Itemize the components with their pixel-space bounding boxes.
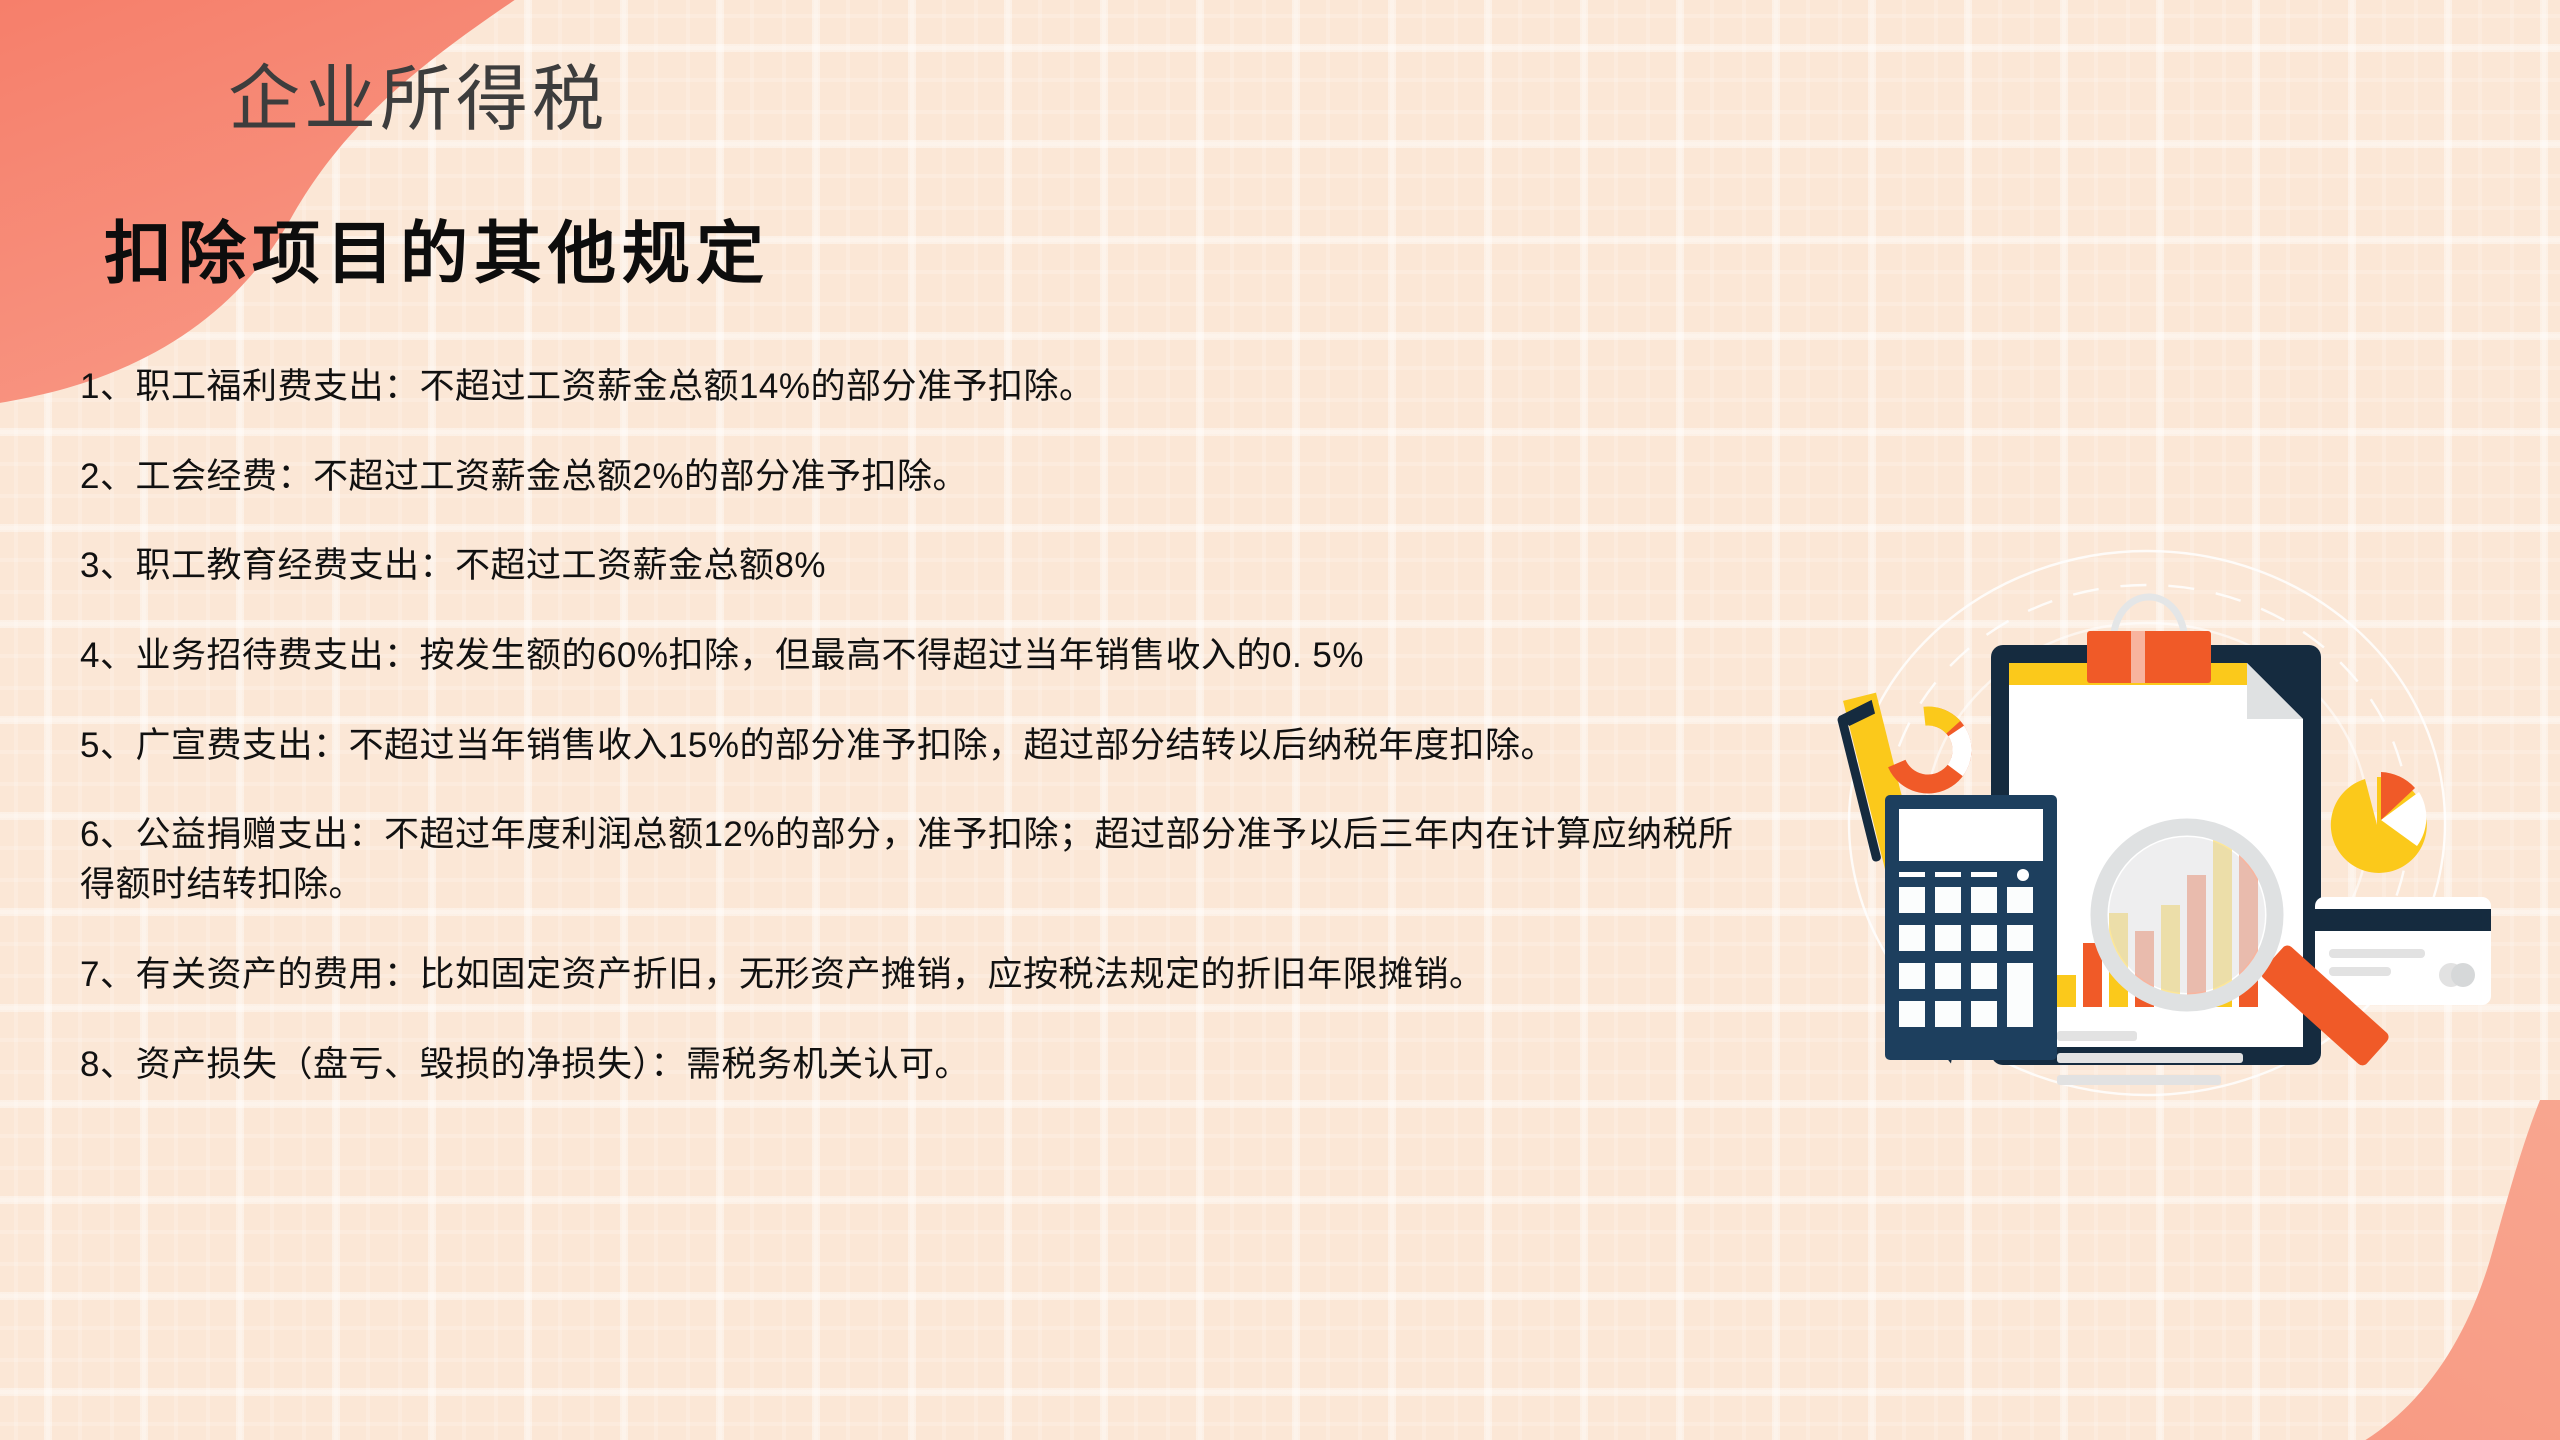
list-item: 7、有关资产的费用：比如固定资产折旧，无形资产摊销，应按税法规定的折旧年限摊销。 — [80, 950, 1740, 1000]
list-item: 5、广宣费支出：不超过当年销售收入15%的部分准予扣除，超过部分结转以后纳税年度… — [80, 721, 1740, 771]
page-subtitle: 扣除项目的其他规定 — [104, 198, 770, 297]
list-item: 4、业务招待费支出：按发生额的60%扣除，但最高不得超过当年销售收入的0. 5% — [80, 631, 1740, 681]
page-title: 企业所得税 — [228, 40, 608, 145]
list-item: 8、资产损失（盘亏、毁损的净损失）：需税务机关认可。 — [80, 1040, 1740, 1090]
list-item: 3、职工教育经费支出：不超过工资薪金总额8% — [80, 541, 1740, 591]
slide-canvas: 企业所得税 扣除项目的其他规定 1、职工福利费支出：不超过工资薪金总额14%的部… — [0, 0, 2560, 1440]
list-item: 2、工会经费：不超过工资薪金总额2%的部分准予扣除。 — [80, 452, 1740, 502]
financial-analysis-illustration — [1795, 545, 2515, 1105]
list-item: 6、公益捐赠支出：不超过年度利润总额12%的部分，准予扣除；超过部分准予以后三年… — [80, 810, 1740, 909]
list-item: 1、职工福利费支出：不超过工资薪金总额14%的部分准予扣除。 — [80, 362, 1740, 412]
deduction-rules-list: 1、职工福利费支出：不超过工资薪金总额14%的部分准予扣除。 2、工会经费：不超… — [80, 362, 1740, 1129]
credit-card — [2315, 897, 2491, 1005]
pie-chart — [2331, 772, 2427, 873]
calculator — [1885, 795, 2057, 1060]
binder-clip — [2087, 597, 2211, 683]
decorative-blob-bottom-right — [1700, 1100, 2560, 1440]
